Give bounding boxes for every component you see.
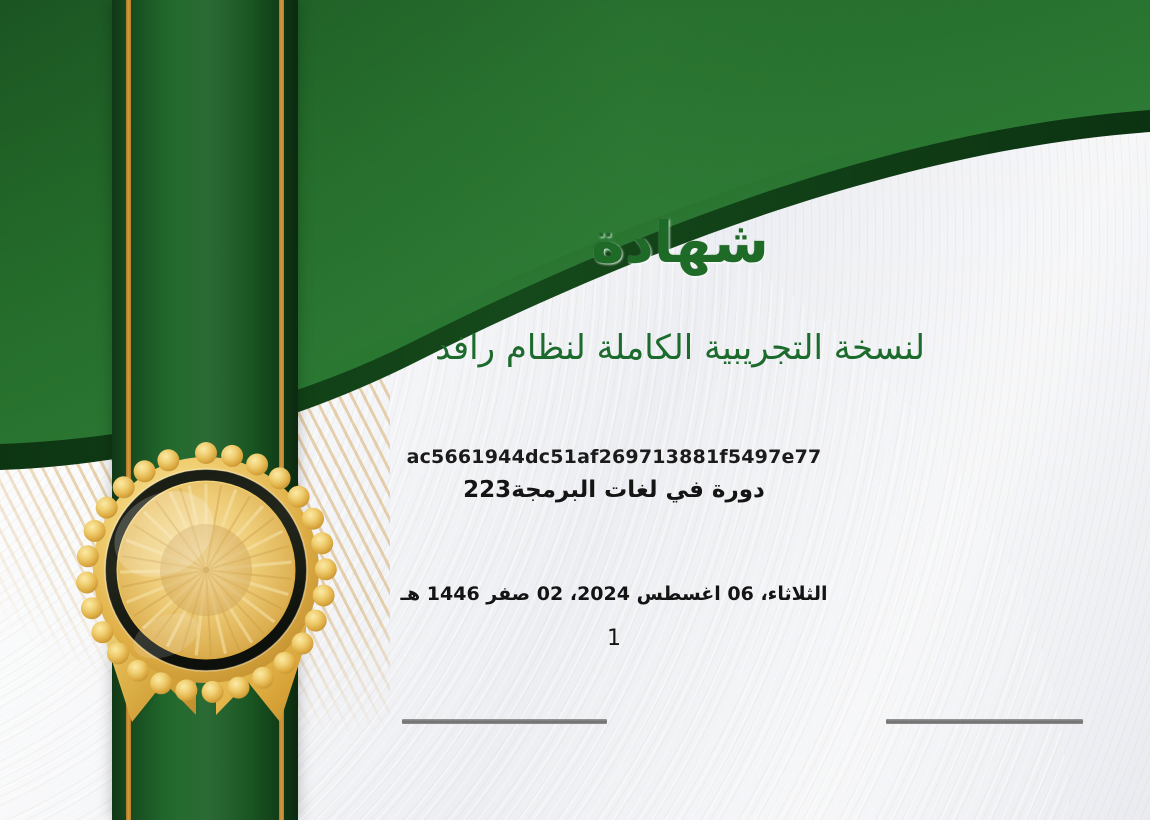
certificate-canvas: شهادة لنسخة التجريبية الكاملة لنظام رافد…: [0, 0, 1150, 820]
signature-line-left: [402, 719, 607, 724]
certificate-content: شهادة لنسخة التجريبية الكاملة لنظام رافد…: [330, 0, 1150, 820]
certificate-title: شهادة: [330, 212, 1030, 275]
copy-number: 1: [330, 626, 898, 651]
award-medal-rosette: [46, 430, 366, 760]
issue-date: الثلاثاء، 06 اغسطس 2024، 02 صفر 1446 هـ: [330, 583, 898, 605]
signature-line-right: [886, 719, 1083, 724]
certificate-subtitle: لنسخة التجريبية الكاملة لنظام رافد: [330, 327, 1030, 370]
course-name: دورة في لغات البرمجة223: [330, 476, 898, 506]
verification-hash: ac5661944dc51af269713881f5497e77: [330, 446, 898, 468]
